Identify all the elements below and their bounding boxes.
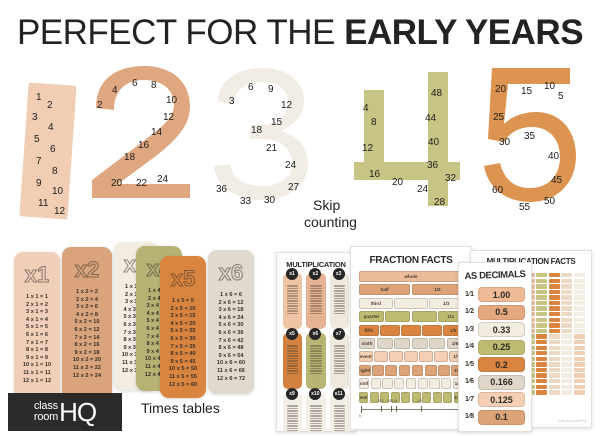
multiplication-cell-badge: x11 (333, 388, 345, 400)
times-table-row: 9 x 6 = 54 (208, 353, 254, 361)
skip-count-value: 10 (166, 95, 177, 106)
multiplication-cell-x1[interactable]: x1 (283, 273, 302, 329)
times-table-heading: x1 (14, 262, 60, 288)
fraction-cell (385, 311, 410, 322)
multiplication-cell-badge: x5 (286, 328, 298, 340)
fraction-cell (394, 378, 404, 389)
skip-count-value: 50 (544, 196, 555, 207)
decimal-grid-cell (536, 279, 547, 283)
fraction-cell (429, 378, 439, 389)
multiplication-cell-x7[interactable]: x7 (330, 333, 349, 389)
decimal-grid-cell (574, 351, 585, 355)
skip-count-value: 16 (138, 140, 149, 151)
times-table-row: 8 x 2 = 16 (62, 342, 112, 350)
decimal-fraction: 1⁄7 (465, 396, 474, 404)
decimal-grid-cell (536, 373, 547, 377)
fraction-row-tenth[interactable]: tenth1/10 (359, 392, 463, 403)
times-table-row: 2 x 2 = 4 (62, 297, 112, 305)
decimal-grid-cell (561, 318, 572, 322)
decimal-fraction: 1⁄1 (465, 291, 474, 299)
times-table-row: 4 x 2 = 8 (62, 312, 112, 320)
decimal-grid-cell (536, 390, 547, 394)
multiplication-cell-badge: x2 (309, 268, 321, 280)
number-line-tick-label: 1/5 (387, 399, 392, 403)
fraction-row-half[interactable]: half1/2 (359, 284, 463, 295)
multiplication-cell-badge: x6 (309, 328, 321, 340)
decimal-grid-column (574, 273, 585, 395)
decimal-grid-cell (561, 346, 572, 350)
decimal-grid-cell (549, 368, 560, 372)
decimal-grid-cell (561, 373, 572, 377)
decimal-grid-column (536, 273, 547, 395)
decimal-grid-cell (549, 312, 560, 316)
decimal-value-chip: 0.33 (478, 322, 525, 337)
times-table-row: 2 x 5 = 10 (160, 306, 206, 314)
fraction-cell: eighth (359, 365, 371, 376)
logo-hq: HQ (59, 399, 96, 425)
decimal-grid-cell (536, 329, 547, 333)
fraction-row-sixth[interactable]: sixth1/6 (359, 338, 463, 349)
decimal-row-0.25[interactable]: 1⁄40.25 (465, 340, 525, 355)
times-table-row: 12 x 2 = 24 (62, 373, 112, 381)
number-line-tick-label: 1/10 (377, 399, 384, 403)
decimal-row-0.2[interactable]: 1⁄50.2 (465, 357, 525, 372)
decimal-grid-cell (561, 329, 572, 333)
decimal-grid-cell (536, 323, 547, 327)
times-table-card-x1[interactable]: x11 x 1 = 12 x 1 = 23 x 1 = 34 x 1 = 45 … (14, 252, 60, 400)
fraction-cell (372, 365, 384, 376)
number-line-tick (391, 406, 392, 412)
decimal-grid-cell (536, 301, 547, 305)
times-table-row: 3 x 6 = 18 (208, 307, 254, 315)
times-table-row: 11 x 1 = 11 (14, 370, 60, 378)
decimal-value-chip: 1.00 (478, 287, 525, 302)
times-table-row: 4 x 6 = 24 (208, 315, 254, 323)
skip-count-value: 28 (434, 197, 445, 208)
skip-count-value: 6 (50, 144, 56, 155)
decimal-grid-cell (561, 312, 572, 316)
fraction-cell (419, 351, 433, 362)
decimal-value-chip: 0.2 (478, 357, 525, 372)
multiplication-cell-badge: x1 (286, 268, 298, 280)
decimal-grid-cell (574, 362, 585, 366)
page-title-bold: EARLY YEARS (344, 13, 583, 52)
times-table-row: 5 x 1 = 5 (14, 324, 60, 332)
decimal-grid-cell (536, 379, 547, 383)
decimal-fraction: 1⁄6 (465, 378, 474, 386)
decimal-grid-cell (561, 295, 572, 299)
number-line-tick (421, 406, 422, 412)
number-line-tick (396, 406, 397, 412)
classroomhq-logo[interactable]: class room HQ (8, 393, 122, 431)
decimal-grid-cell (549, 279, 560, 283)
fraction-cell (434, 351, 448, 362)
times-table-row: 3 x 5 = 15 (160, 313, 206, 321)
decimal-grid-cell (549, 290, 560, 294)
times-table-row: 4 x 1 = 4 (14, 317, 60, 325)
fraction-cell (371, 378, 381, 389)
decimal-grid-cell (536, 385, 547, 389)
decimal-grid-cell (536, 351, 547, 355)
skip-count-value: 45 (551, 175, 562, 186)
decimal-grid-cell (561, 368, 572, 372)
decimal-grid-cell (549, 273, 560, 277)
skip-count-value: 6 (132, 78, 138, 89)
times-table-row: 7 x 2 = 14 (62, 335, 112, 343)
times-table-row: 9 x 1 = 9 (14, 355, 60, 363)
decimal-grid-cell (549, 373, 560, 377)
times-table-list: 1 x 2 = 22 x 2 = 43 x 2 = 64 x 2 = 85 x … (62, 289, 112, 380)
decimal-grid-cell (574, 357, 585, 361)
decimal-grid-cell (536, 334, 547, 338)
decimal-fraction: 1⁄2 (465, 308, 474, 316)
poster-canvas: PERFECT FOR THE EARLY YEARS 123456789101… (0, 0, 600, 436)
decimal-grid-cell (574, 390, 585, 394)
multiplication-cell-x2[interactable]: x2 (306, 273, 325, 329)
decimal-grid-cell (574, 312, 585, 316)
skip-count-value: 1 (36, 92, 42, 103)
decimal-row-1.00[interactable]: 1⁄11.00 (465, 287, 525, 302)
multiplication-cell-badge: x7 (333, 328, 345, 340)
fraction-cell: ninth (359, 378, 369, 389)
decimal-grid-cell (574, 340, 585, 344)
skip-count-value: 30 (499, 137, 510, 148)
times-table-row: 11 x 2 = 22 (62, 365, 112, 373)
decimal-grid-cell (561, 379, 572, 383)
times-table-row: 10 x 1 = 10 (14, 362, 60, 370)
fraction-number-line (361, 409, 461, 410)
fraction-cell (422, 325, 442, 336)
skip-count-value: 60 (492, 185, 503, 196)
times-table-row: 6 x 2 = 12 (62, 327, 112, 335)
decimal-grid-cell (536, 362, 547, 366)
fraction-cell (377, 338, 393, 349)
multiplication-cell-badge: x9 (286, 388, 298, 400)
skip-count-value: 25 (493, 112, 504, 123)
decimal-grid-cell (574, 279, 585, 283)
decimal-grid-cell (549, 385, 560, 389)
decimal-grid-cell (574, 295, 585, 299)
times-table-row: 6 x 5 = 30 (160, 336, 206, 344)
multiplication-cell-lines (283, 345, 302, 374)
times-table-row: 5 x 2 = 10 (62, 319, 112, 327)
times-table-list: 1 x 6 = 62 x 6 = 123 x 6 = 184 x 6 = 245… (208, 292, 254, 383)
multiplication-cell-lines (306, 405, 325, 432)
skip-count-value: 27 (288, 182, 299, 193)
decimal-grid-cell (561, 362, 572, 366)
decimal-grid-cell (549, 351, 560, 355)
multiplication-grid: x1x2x3x5x6x7x9x10x11 (283, 273, 349, 432)
skip-count-value: 4 (48, 122, 54, 133)
decimal-row-0.5[interactable]: 1⁄20.5 (465, 305, 525, 320)
multiplication-cell-lines (330, 285, 349, 314)
fraction-cell (394, 338, 410, 349)
decimal-grid-cell (549, 306, 560, 310)
decimal-grid-cell (549, 284, 560, 288)
times-table-row: 7 x 6 = 42 (208, 338, 254, 346)
fraction-cell (422, 392, 431, 403)
skip-count-value: 33 (240, 196, 251, 207)
fraction-cell: quarter (359, 311, 384, 322)
fraction-row-eighth[interactable]: eighth1/8 (359, 365, 463, 376)
decimal-grid-cell (549, 323, 560, 327)
fraction-row-ninth[interactable]: ninth1/9 (359, 378, 463, 389)
decimal-grid-cell (536, 273, 547, 277)
times-table-row: 5 x 5 = 25 (160, 328, 206, 336)
decimal-grid-cell (536, 312, 547, 316)
decimal-grid-cell (574, 290, 585, 294)
skip-count-value: 18 (251, 125, 262, 136)
times-table-row: 6 x 6 = 36 (208, 330, 254, 338)
decimal-value-chip: 0.125 (478, 392, 525, 407)
skip-count-value: 32 (445, 173, 456, 184)
skip-count-value: 8 (151, 80, 157, 91)
decimal-grid-cell (561, 357, 572, 361)
decimal-grid-cell (574, 318, 585, 322)
fraction-facts-poster[interactable]: FRACTION FACTS wholehalf1/2third1/3quart… (350, 246, 472, 430)
fraction-cell: tenth (359, 392, 368, 403)
decimal-grid-cell (574, 284, 585, 288)
fraction-cell (406, 378, 416, 389)
decimal-grid-cell (574, 334, 585, 338)
times-table-row: 9 x 2 = 18 (62, 350, 112, 358)
page-title: PERFECT FOR THE EARLY YEARS (0, 13, 600, 53)
times-table-row: 3 x 1 = 3 (14, 309, 60, 317)
decimal-grid-cell (561, 334, 572, 338)
fraction-row-fifth[interactable]: fifth1/5 (359, 325, 463, 336)
decimal-value-chip: 0.5 (478, 305, 525, 320)
decimal-grid-cell (574, 323, 585, 327)
decimal-grid-cell (561, 340, 572, 344)
decimal-grid-cell (549, 357, 560, 361)
multiplication-cell-x5[interactable]: x5 (283, 333, 302, 389)
skip-count-value: 10 (544, 81, 555, 92)
times-table-list: 1 x 5 = 52 x 5 = 103 x 5 = 154 x 5 = 205… (160, 298, 206, 389)
skip-count-value: 3 (229, 96, 235, 107)
skip-count-value: 8 (52, 166, 58, 177)
decimal-fraction: 1⁄8 (465, 413, 474, 421)
times-table-row: 11 x 5 = 55 (160, 374, 206, 382)
skip-count-value: 15 (521, 86, 532, 97)
times-table-row: 6 x 1 = 6 (14, 332, 60, 340)
number-line-tick-start (361, 406, 362, 413)
skip-count-value: 11 (38, 198, 48, 209)
decimal-row-0.1[interactable]: 1⁄80.1 (465, 410, 525, 425)
skip-count-value: 36 (216, 184, 227, 195)
skip-count-value: 48 (431, 88, 442, 99)
multiplication-cell-lines (330, 405, 349, 432)
decimal-grid-cell (549, 329, 560, 333)
decimal-grid-cell (561, 290, 572, 294)
times-table-row: 8 x 6 = 48 (208, 345, 254, 353)
decimal-grid-cell (561, 351, 572, 355)
as-decimals-title: AS DECIMALS (459, 269, 531, 283)
fraction-cell: whole (359, 271, 463, 282)
times-table-row: 1 x 1 = 1 (14, 294, 60, 302)
times-table-row: 12 x 1 = 12 (14, 378, 60, 386)
times-table-card-x5[interactable]: x51 x 5 = 52 x 5 = 103 x 5 = 154 x 5 = 2… (160, 256, 206, 398)
fraction-cell (389, 351, 403, 362)
multiplication-cell-x3[interactable]: x3 (330, 273, 349, 329)
skip-count-value: 35 (524, 131, 535, 142)
multiplication-poster[interactable]: MULTIPLICATION x1x2x3x5x6x7x9x10x11 (276, 252, 356, 432)
number-line-tick-label: 1/2 (417, 399, 422, 403)
numeral-4-shape (352, 70, 460, 206)
multiplication-cell-x9[interactable]: x9 (283, 393, 302, 432)
fraction-row-quarter[interactable]: quarter1/4 (359, 311, 463, 322)
decimal-row-0.33[interactable]: 1⁄30.33 (465, 322, 525, 337)
fraction-cell: half (359, 284, 410, 295)
decimal-fraction: 1⁄3 (465, 326, 474, 334)
skip-count-value: 6 (248, 82, 254, 93)
decimal-grid-cell (536, 295, 547, 299)
fraction-cell: third (359, 298, 393, 309)
skip-count-value: 12 (163, 112, 174, 123)
times-table-card-x6[interactable]: x61 x 6 = 62 x 6 = 123 x 6 = 184 x 6 = 2… (208, 250, 254, 394)
skip-count-value: 24 (285, 160, 296, 171)
times-table-row: 10 x 2 = 20 (62, 357, 112, 365)
skip-count-value: 36 (427, 160, 438, 171)
decimal-grid-cell (574, 379, 585, 383)
fraction-cell (382, 378, 392, 389)
fraction-cell (374, 351, 388, 362)
fraction-cell (441, 378, 451, 389)
fraction-cell (401, 325, 421, 336)
decimal-grid-cell (574, 385, 585, 389)
page-title-light: PERFECT FOR THE (17, 13, 344, 52)
times-table-row: 7 x 5 = 35 (160, 344, 206, 352)
fraction-cell (380, 325, 400, 336)
skip-count-value: 22 (136, 178, 147, 189)
fraction-cell (429, 338, 445, 349)
skip-count-value: 30 (264, 195, 275, 206)
multiplication-cell-lines (283, 405, 302, 432)
decimal-grid-cell (561, 301, 572, 305)
times-table-row: 3 x 2 = 6 (62, 304, 112, 312)
skip-count-numeral-4 (352, 70, 460, 206)
decimal-value-chip: 0.166 (478, 375, 525, 390)
fraction-cell (401, 392, 410, 403)
decimal-row-0.166[interactable]: 1⁄60.166 (465, 375, 525, 390)
times-table-row: 5 x 6 = 30 (208, 322, 254, 330)
fraction-row-whole[interactable]: whole (359, 271, 463, 282)
fraction-cell (412, 365, 424, 376)
times-table-row: 8 x 1 = 8 (14, 347, 60, 355)
times-table-row: 1 x 2 = 2 (62, 289, 112, 297)
logo-inner: class room HQ (34, 399, 96, 425)
decimal-grid-cell (574, 329, 585, 333)
decimal-grid-cell (561, 284, 572, 288)
times-table-heading: x5 (160, 266, 206, 292)
skip-count-value: 2 (47, 100, 53, 111)
fraction-cell: seventh (359, 351, 373, 362)
skip-count-value: 10 (52, 186, 63, 197)
fraction-cell (404, 351, 418, 362)
decimal-grid-cell (561, 385, 572, 389)
decimal-grid-cell (561, 323, 572, 327)
caption-skip-counting: Skip counting (313, 197, 357, 231)
fraction-row-seventh[interactable]: seventh1/7 (359, 351, 463, 362)
skip-count-value: 21 (266, 143, 277, 154)
decimal-grid-cell (536, 318, 547, 322)
skip-count-value: 44 (425, 113, 436, 124)
fraction-cell: 1/2 (412, 284, 463, 295)
decimal-row-0.125[interactable]: 1⁄70.125 (465, 392, 525, 407)
fraction-cell (412, 338, 428, 349)
skip-count-value: 12 (281, 100, 292, 111)
decimal-value-chip: 0.25 (478, 340, 525, 355)
skip-count-value: 24 (157, 174, 168, 185)
number-line-label-start: 0 (359, 414, 361, 418)
times-table-row: 11 x 6 = 66 (208, 368, 254, 376)
multiplication-cell-x10[interactable]: x10 (306, 393, 325, 432)
decimal-grid-cell (549, 379, 560, 383)
decimal-grid-cell (574, 301, 585, 305)
decimal-grid-cell (549, 295, 560, 299)
multiplication-cell-lines (306, 285, 325, 314)
skip-count-value: 9 (268, 84, 274, 95)
decimal-grid-cell (561, 279, 572, 283)
decimal-grid-cell (561, 390, 572, 394)
skip-count-value: 20 (495, 84, 506, 95)
fraction-cell: fifth (359, 325, 379, 336)
fraction-cell (412, 311, 437, 322)
decimal-fraction: 1⁄5 (465, 361, 474, 369)
number-line-tick-label: 1/4 (392, 399, 397, 403)
number-line-tick (381, 406, 382, 412)
decimal-grid-cell (536, 346, 547, 350)
skip-count-value: 40 (428, 137, 439, 148)
multiplication-cell-badge: x10 (309, 388, 321, 400)
times-table-row: 1 x 5 = 5 (160, 298, 206, 306)
decimal-grid-cell (549, 334, 560, 338)
decimal-grid-cell (536, 357, 547, 361)
decimal-grid-cell (561, 273, 572, 277)
decimal-grid-cell (549, 346, 560, 350)
decimal-value-chip: 0.1 (478, 410, 525, 425)
times-table-row: 1 x 6 = 6 (208, 292, 254, 300)
fraction-cell (425, 365, 437, 376)
fraction-cell (438, 365, 450, 376)
skip-count-value: 20 (392, 177, 403, 188)
decimal-grid-cell (549, 340, 560, 344)
logo-wordmark: class room (34, 401, 58, 423)
decimal-grid-cell (574, 273, 585, 277)
decimal-grid-cell (536, 340, 547, 344)
decimal-grid-cell (549, 390, 560, 394)
multiplication-cell-x6[interactable]: x6 (306, 333, 325, 389)
fraction-cell: sixth (359, 338, 375, 349)
skip-count-value: 5 (558, 91, 564, 102)
decimal-grid-cell (549, 318, 560, 322)
decimal-grid-cell (549, 301, 560, 305)
times-table-row: 12 x 6 = 72 (208, 376, 254, 384)
skip-count-value: 2 (97, 100, 103, 111)
times-table-row: 10 x 6 = 60 (208, 360, 254, 368)
times-table-row: 12 x 5 = 60 (160, 382, 206, 390)
as-decimals-card[interactable]: AS DECIMALS 1⁄11.001⁄20.51⁄30.331⁄40.251… (458, 262, 532, 432)
fraction-row-third[interactable]: third1/3 (359, 298, 463, 309)
skip-count-value: 14 (151, 127, 162, 138)
multiplication-cell-lines (283, 285, 302, 314)
skip-count-value: 4 (363, 103, 369, 114)
decimal-grid-cell (536, 290, 547, 294)
times-table-card-x2[interactable]: x21 x 2 = 22 x 2 = 43 x 2 = 64 x 2 = 85 … (62, 247, 112, 402)
times-table-list: 1 x 1 = 12 x 1 = 23 x 1 = 34 x 1 = 45 x … (14, 294, 60, 385)
times-table-heading: x2 (62, 257, 112, 283)
fraction-poster-title: FRACTION FACTS (351, 255, 471, 266)
multiplication-cell-x11[interactable]: x11 (330, 393, 349, 432)
